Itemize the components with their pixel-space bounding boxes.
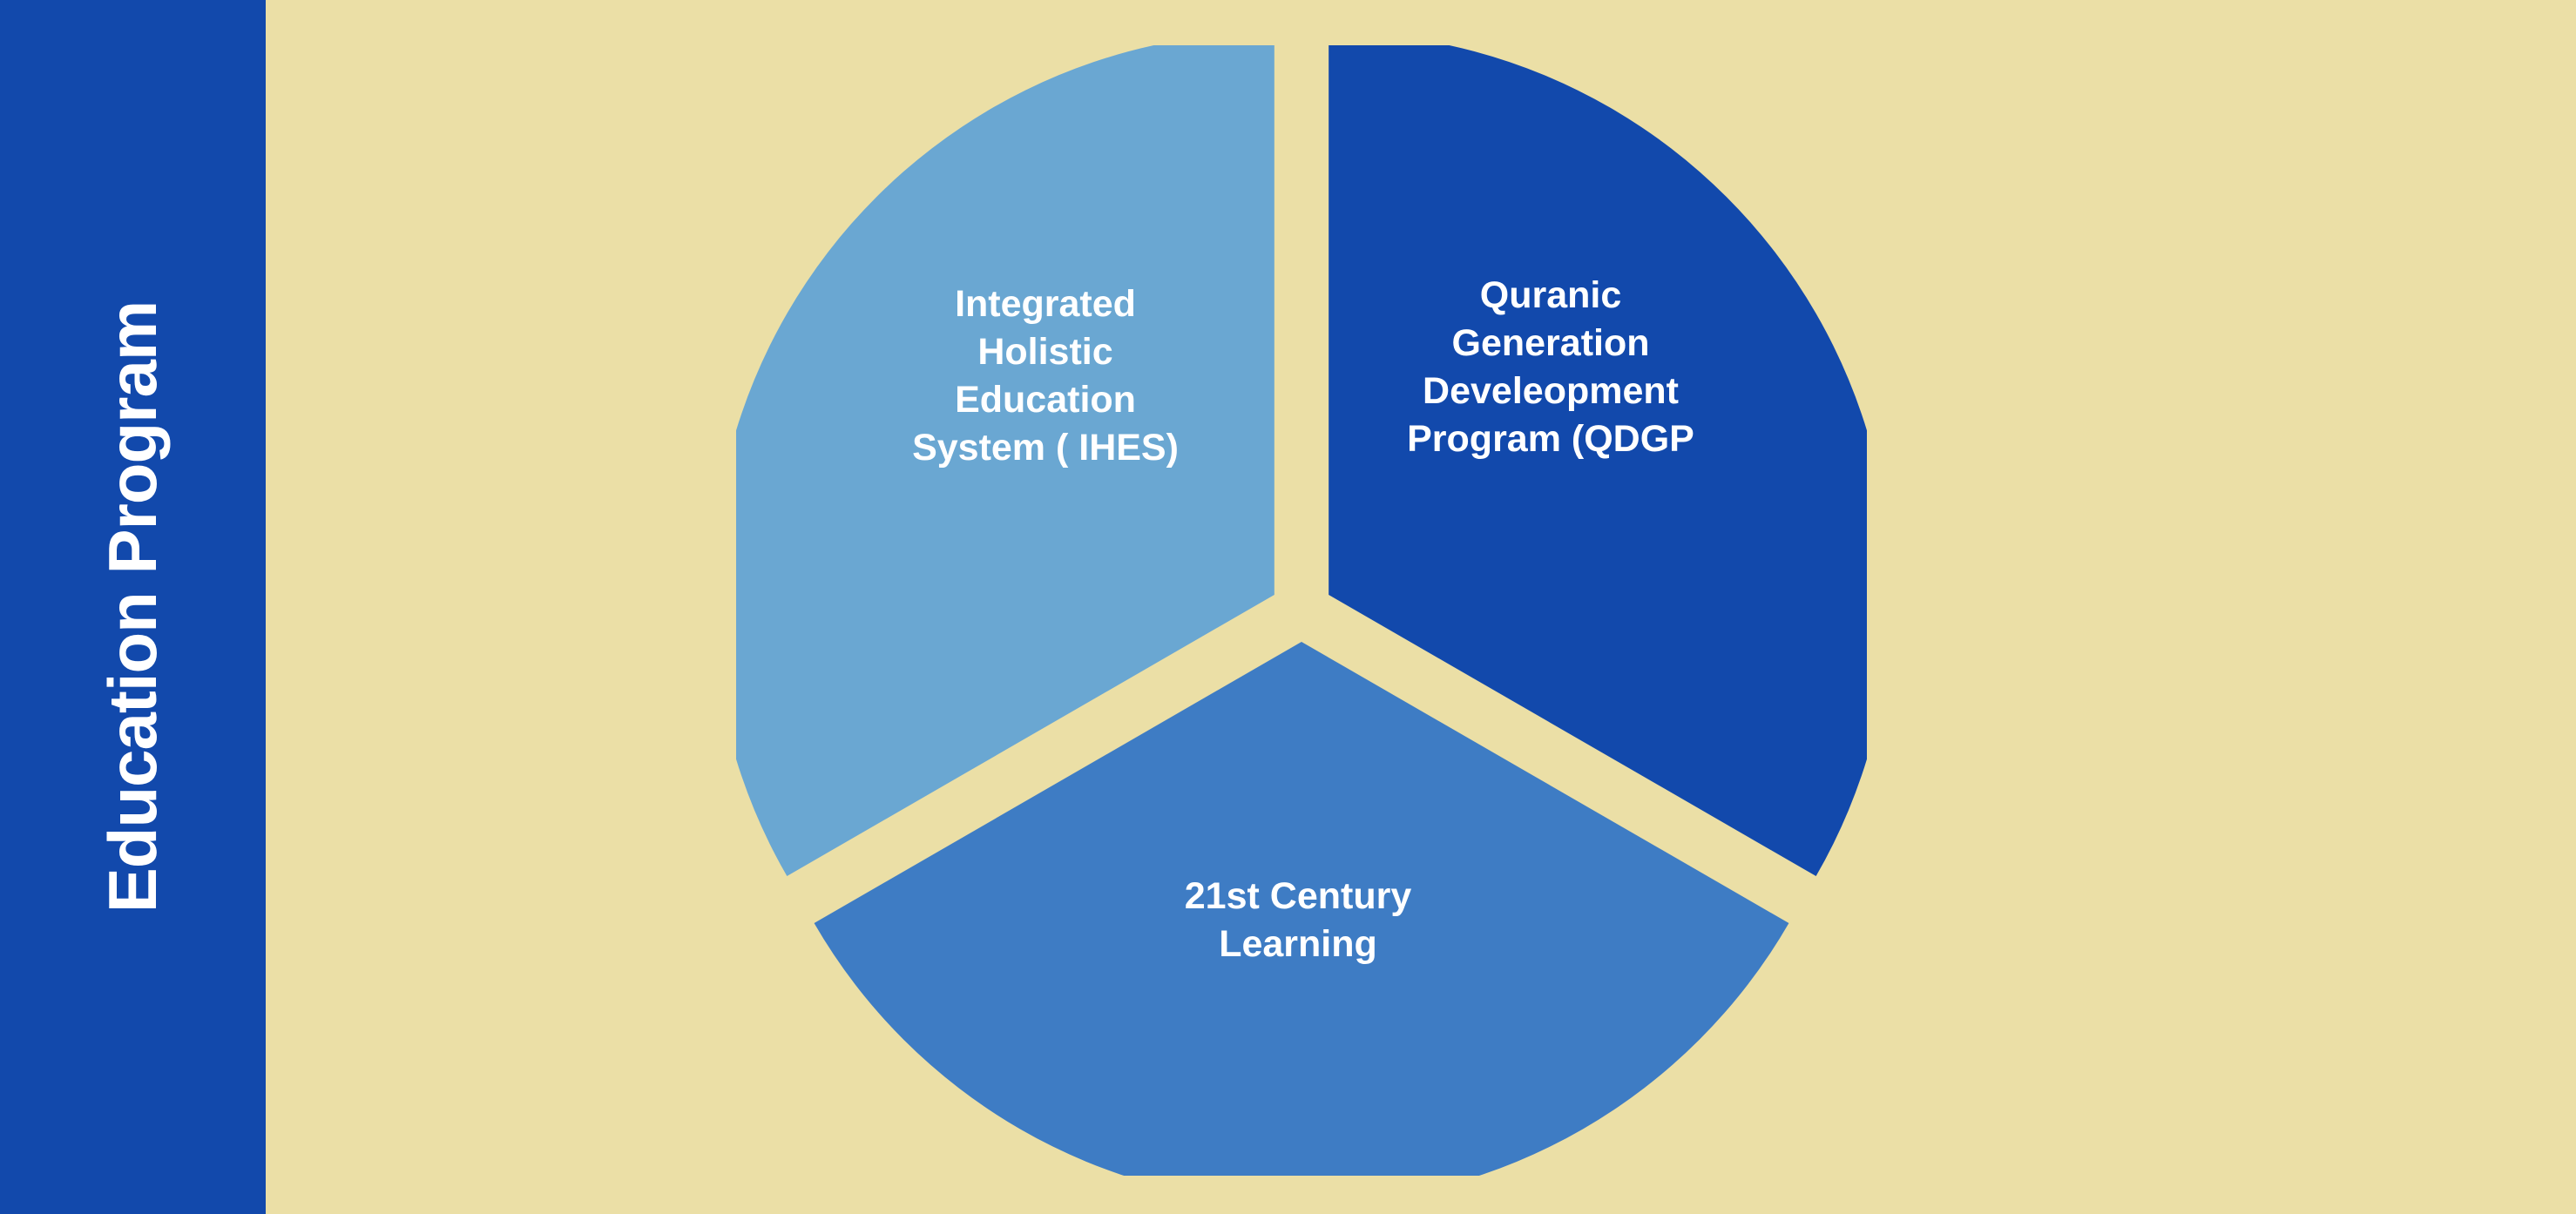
sidebar-title-bar: Education Program [0, 0, 266, 1214]
slide-canvas: Education Program Integrated Holistic Ed… [0, 0, 2576, 1214]
page-title: Education Program [99, 301, 167, 913]
pie-chart: Integrated Holistic Education System ( I… [736, 45, 1867, 1176]
pie-chart-svg [736, 45, 1867, 1176]
